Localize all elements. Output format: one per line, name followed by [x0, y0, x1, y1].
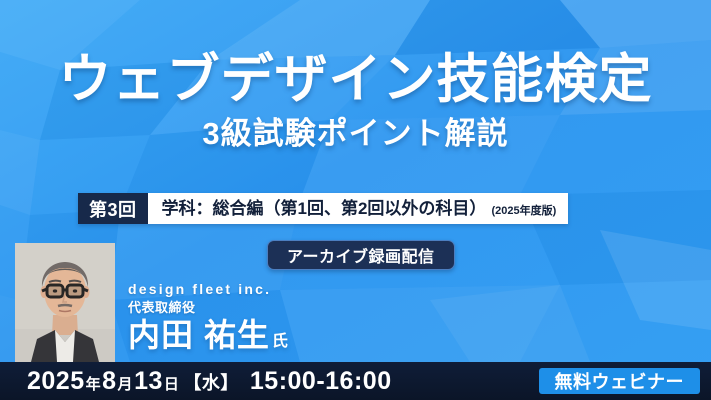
speaker-company: design fleet inc.	[128, 281, 289, 298]
event-year: 2025	[27, 367, 85, 396]
event-datetime: 2025年8月13日【水】15:00-16:00	[27, 367, 392, 396]
speaker-info: design fleet inc. 代表取締役 内田 祐生氏	[128, 281, 289, 354]
event-day-unit: 日	[164, 373, 180, 394]
portrait-illustration	[15, 243, 115, 362]
free-webinar-button[interactable]: 無料ウェビナー	[539, 368, 701, 394]
session-bar: 第3回 学科：総合編（第1回、第2回以外の科目） (2025年度版)	[78, 193, 568, 224]
speaker-photo	[15, 243, 115, 362]
event-year-unit: 年	[86, 373, 102, 394]
archive-badge: アーカイブ録画配信	[267, 240, 455, 270]
speaker-honorific: 氏	[272, 333, 289, 350]
session-topic-box: 学科：総合編（第1回、第2回以外の科目） (2025年度版)	[148, 193, 569, 224]
event-time: 15:00-16:00	[250, 367, 392, 396]
webinar-banner: ウェブデザイン技能検定 3級試験ポイント解説 第3回 学科：総合編（第1回、第2…	[0, 0, 711, 400]
speaker-name-row: 内田 祐生氏	[128, 318, 289, 354]
session-number-badge: 第3回	[78, 193, 148, 224]
speaker-role: 代表取締役	[128, 300, 289, 316]
event-month-unit: 月	[118, 373, 134, 394]
speaker-name: 内田 祐生	[128, 317, 270, 353]
event-day-of-week: 【水】	[183, 369, 239, 395]
event-day: 13	[134, 367, 163, 396]
session-topic-text: 学科：総合編（第1回、第2回以外の科目）	[162, 193, 487, 224]
event-month: 8	[102, 367, 116, 396]
footer-bar: 2025年8月13日【水】15:00-16:00 無料ウェビナー	[0, 362, 711, 400]
session-year-edition: (2025年度版)	[491, 196, 556, 227]
